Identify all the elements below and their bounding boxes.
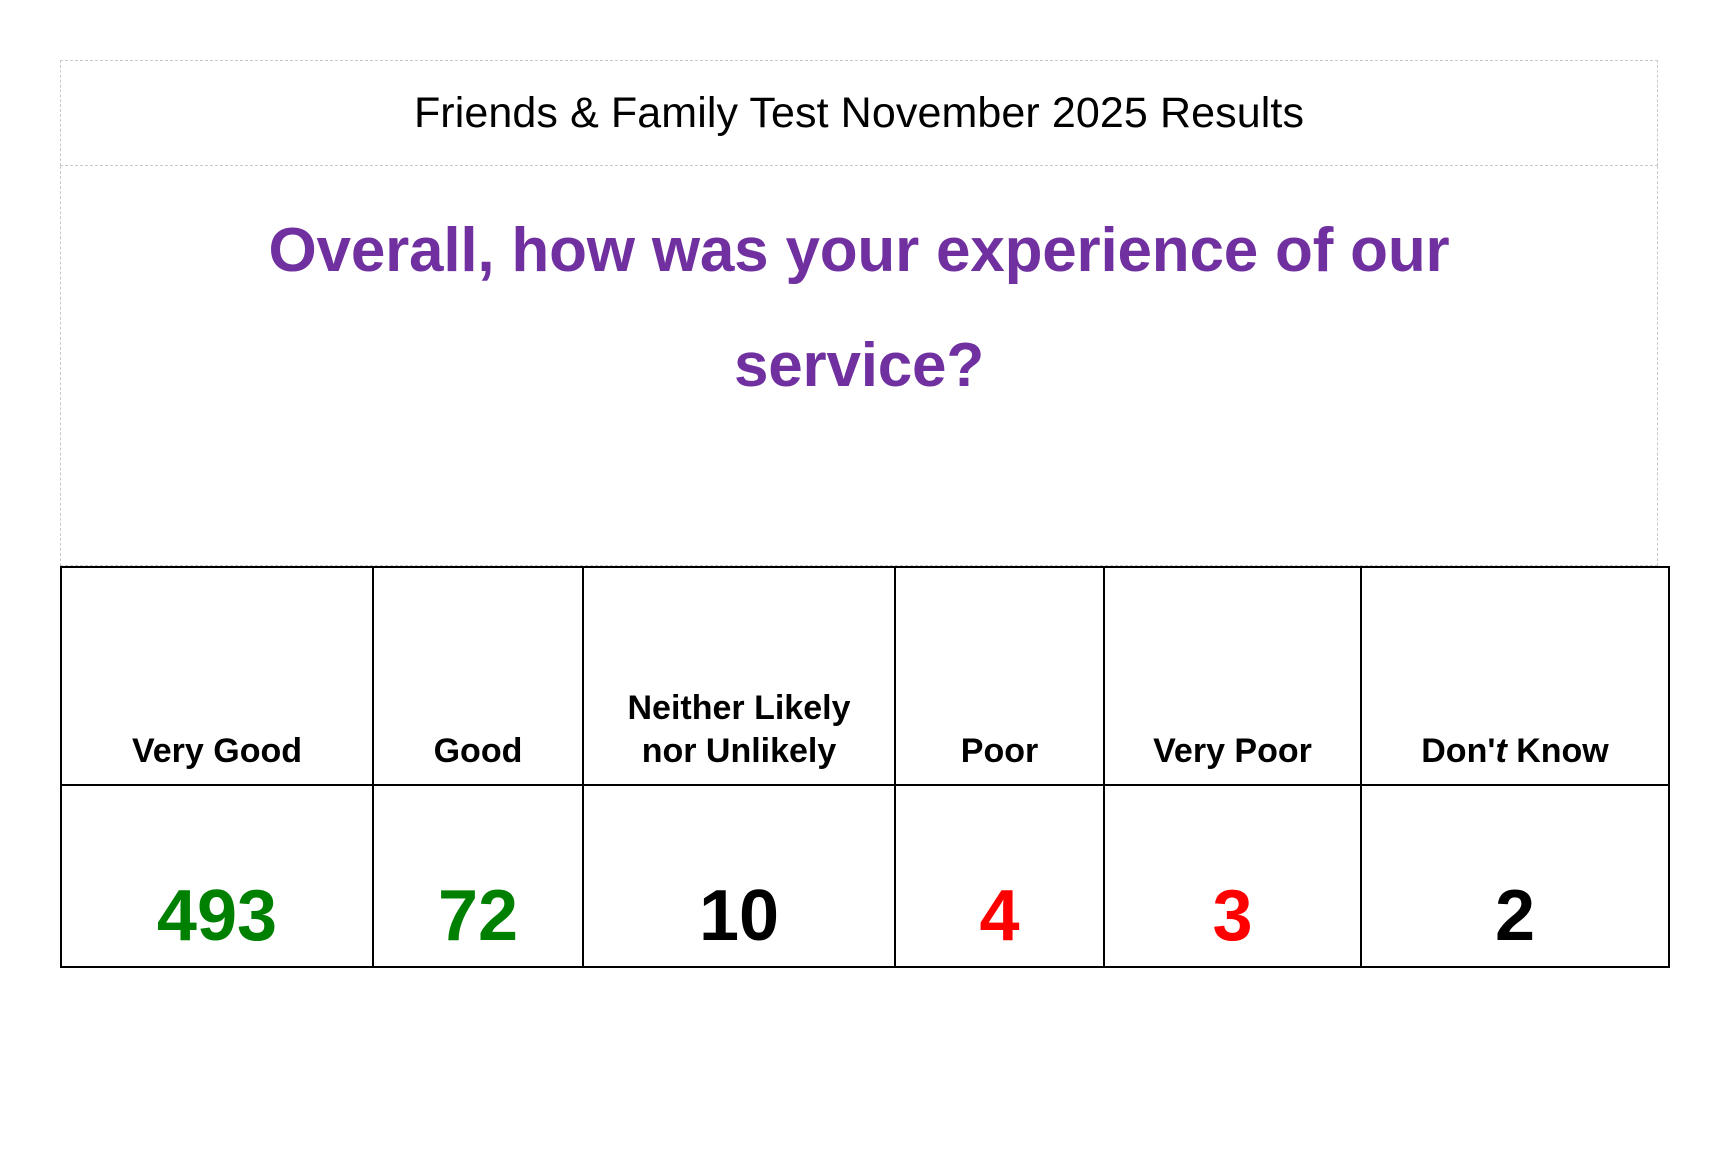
header-line: Good — [374, 730, 582, 774]
value-good: 72 — [373, 785, 583, 967]
value-neither-likely-nor-unlikely: 10 — [583, 785, 895, 967]
title-placeholder: Friends & Family Test November 2025 Resu… — [60, 60, 1658, 166]
value-poor: 4 — [895, 785, 1104, 967]
value-dont-know: 2 — [1361, 785, 1669, 967]
table-header-row: Very Good Good Neither Likely nor Unlike… — [61, 567, 1669, 785]
column-header-very-poor: Very Poor — [1104, 567, 1361, 785]
header-line: Very Good — [62, 730, 372, 774]
table-row: 493 72 10 4 3 2 — [61, 785, 1669, 967]
header-line: Neither Likely — [584, 687, 894, 731]
header-line: Very Poor — [1105, 730, 1360, 774]
column-header-poor: Poor — [895, 567, 1104, 785]
results-table: Very Good Good Neither Likely nor Unlike… — [60, 566, 1670, 968]
header-text-pre: Don' — [1421, 732, 1495, 770]
column-header-dont-know: Don't Know — [1361, 567, 1669, 785]
column-header-very-good: Very Good — [61, 567, 373, 785]
header-line: nor Unlikely — [584, 730, 894, 774]
value-very-good: 493 — [61, 785, 373, 967]
header-text-post: Know — [1507, 732, 1609, 770]
page-title: Friends & Family Test November 2025 Resu… — [414, 89, 1304, 138]
column-header-good: Good — [373, 567, 583, 785]
header-text-italic: t — [1495, 732, 1506, 770]
survey-question: Overall, how was your experience of our … — [164, 194, 1554, 423]
value-very-poor: 3 — [1104, 785, 1361, 967]
column-header-neither-likely-nor-unlikely: Neither Likely nor Unlikely — [583, 567, 895, 785]
slide-root: Friends & Family Test November 2025 Resu… — [0, 0, 1717, 1161]
header-line: Don't Know — [1362, 730, 1668, 774]
header-line: Poor — [896, 730, 1103, 774]
body-placeholder: Overall, how was your experience of our … — [60, 166, 1658, 566]
